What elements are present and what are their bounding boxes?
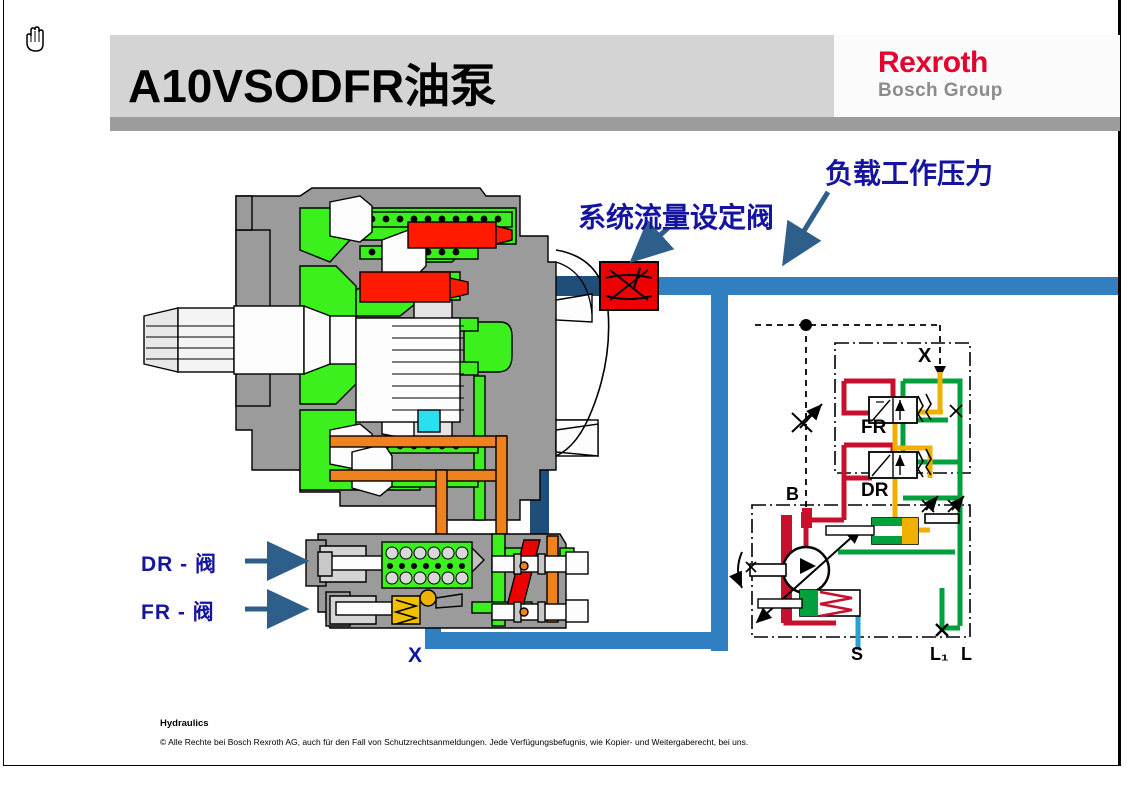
logo-brand-text: Rexroth xyxy=(878,48,1003,78)
suction-line-cyan xyxy=(808,586,858,650)
pump-symbol xyxy=(738,528,862,614)
schematic-label-port-s: S xyxy=(851,644,863,665)
schematic-envelope-lower xyxy=(752,505,970,637)
schematic-label-port-l1: L₁ xyxy=(930,644,948,665)
schematic-label-port-l: L xyxy=(961,644,972,665)
footer-title: Hydraulics xyxy=(160,718,748,729)
arrow-load-pressure xyxy=(786,192,828,260)
external-throttle-symbol xyxy=(792,404,822,432)
drive-shaft xyxy=(144,306,356,374)
slide-canvas: A10VSODFR油泵 Rexroth Bosch Group 系统流量设定阀 … xyxy=(0,0,1128,792)
hydraulic-schematic xyxy=(738,319,970,650)
load-line-group xyxy=(654,277,1120,651)
schematic-envelope-upper xyxy=(835,343,970,473)
accent-cyan-element xyxy=(418,410,440,432)
junction-dot xyxy=(800,319,812,331)
control-oil-orange xyxy=(330,436,507,606)
callout-arrows xyxy=(245,192,828,609)
pressure-pipe-group xyxy=(404,204,606,622)
schematic-label-port-x: X xyxy=(918,345,931,368)
pilot-lines-yellow xyxy=(875,372,943,530)
valve-block xyxy=(306,534,588,628)
schematic-label-port-b: B xyxy=(786,484,799,505)
footer-copyright: © Alle Rechte bei Bosch Rexroth AG, auch… xyxy=(160,737,748,747)
rexroth-logo: Rexroth Bosch Group xyxy=(878,48,1003,100)
logo-group-text: Bosch Group xyxy=(878,81,1003,100)
annotation-pilot-port-x: X xyxy=(408,644,422,668)
control-cylinder xyxy=(826,518,918,544)
pilot-line-x-group xyxy=(425,612,725,649)
annotation-flow-setting-valve: 系统流量设定阀 xyxy=(578,196,774,236)
open-hand-cursor-icon xyxy=(22,24,48,54)
page-title: A10VSODFR油泵 xyxy=(128,50,496,116)
schematic-label-fr: FR xyxy=(861,417,886,439)
piston-pressurized xyxy=(360,222,512,302)
dr-pilot-valve xyxy=(869,449,931,478)
dr-valve-spool xyxy=(318,542,484,588)
annotation-load-working-pressure: 负载工作压力 xyxy=(825,152,993,192)
annotation-dr-valve: DR - 阀 xyxy=(141,548,217,578)
control-lines-green xyxy=(838,381,960,628)
flow-control-throttle-valve[interactable] xyxy=(600,262,658,310)
header-rule xyxy=(110,117,1120,131)
fr-valve-spool xyxy=(330,590,462,624)
bias-spring-cylinder xyxy=(758,590,860,616)
throttle-symbols xyxy=(746,405,964,572)
schematic-label-dr: DR xyxy=(861,480,888,502)
footer: Hydraulics © Alle Rechte bei Bosch Rexro… xyxy=(160,718,748,747)
annotation-fr-valve: FR - 阀 xyxy=(141,596,215,626)
pump-cutaway xyxy=(144,188,609,606)
